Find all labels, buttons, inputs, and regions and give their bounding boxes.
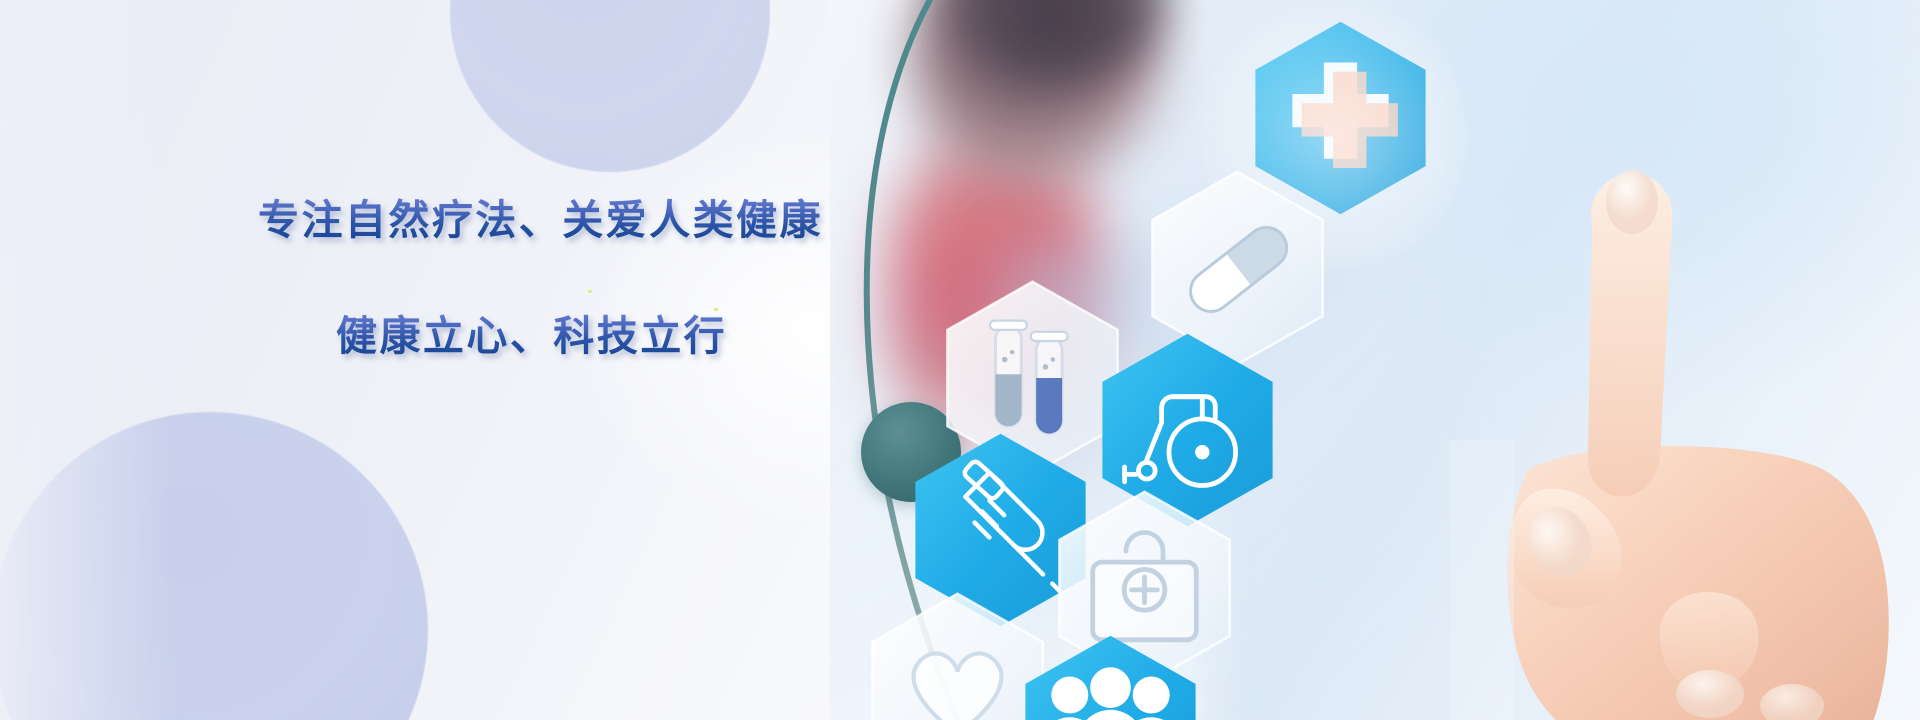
hero-banner: 专注自然疗法、关爱人类健康 健康立心、科技立行 (0, 0, 1920, 720)
medical-photo-panel (830, 0, 1920, 720)
headline-block: 专注自然疗法、关爱人类健康 健康立心、科技立行 (0, 0, 900, 720)
headline-primary: 专注自然疗法、关爱人类健康 (258, 186, 823, 246)
family-group-icon (1018, 632, 1203, 720)
pointing-hand-icon (1410, 140, 1920, 720)
headline-secondary: 健康立心、科技立行 (336, 302, 727, 362)
